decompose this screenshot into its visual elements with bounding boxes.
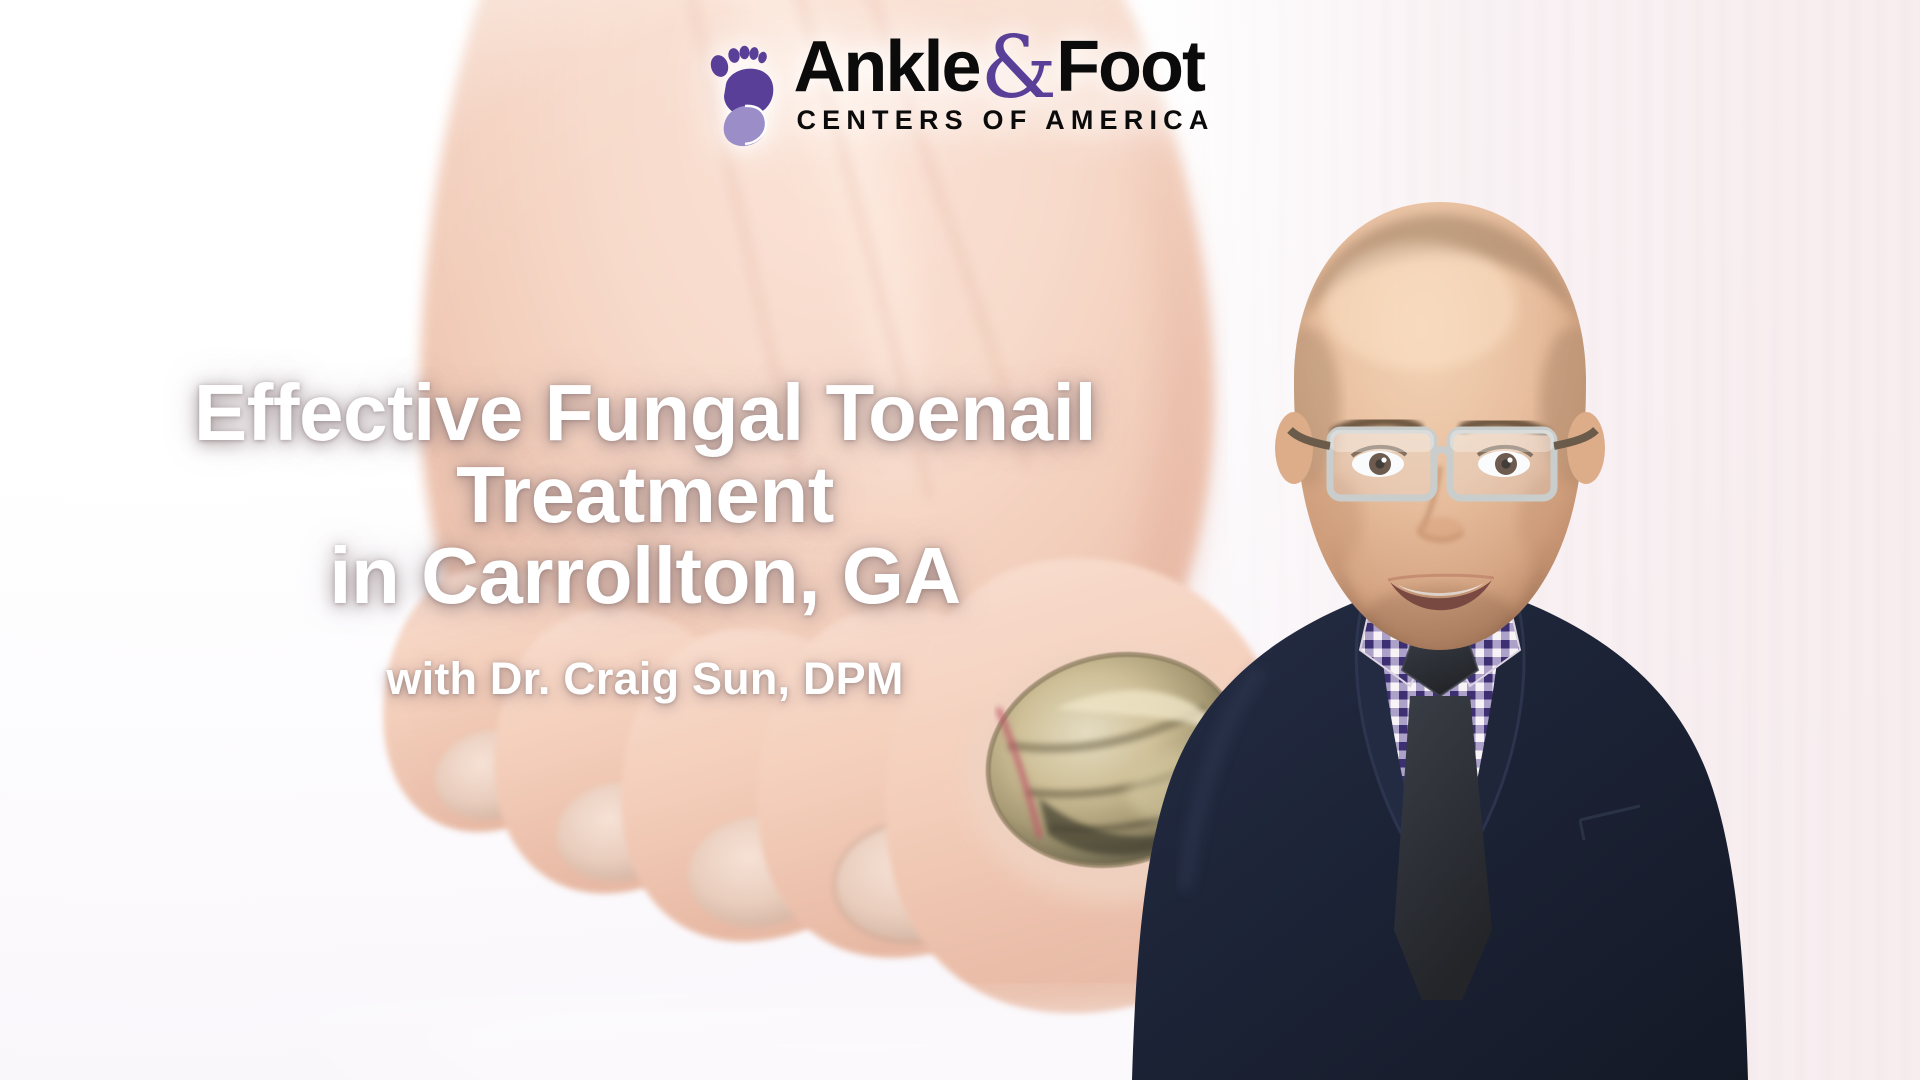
headline-line-1: Effective Fungal Toenail (0, 372, 1290, 454)
logo-ampersand: & (980, 18, 1057, 118)
logo-word-foot: Foot (1056, 27, 1204, 107)
headline-line-3: in Carrollton, GA (0, 535, 1290, 617)
page-title: Effective Fungal Toenail Treatment in Ca… (0, 372, 1290, 617)
logo-word-ankle: Ankle (793, 27, 979, 107)
head (1272, 202, 1608, 672)
headline-line-2: Treatment (0, 454, 1290, 536)
footprint-logo-mark-icon (705, 40, 777, 148)
headline-subtitle: with Dr. Craig Sun, DPM (0, 653, 1290, 705)
doctor-photo (1110, 130, 1770, 1080)
hero-banner: Ankle&Foot CENTERS OF AMERICA Effective … (0, 0, 1920, 1080)
logo-wordmark: Ankle&Foot (793, 34, 1214, 103)
hero-copy-block: Effective Fungal Toenail Treatment in Ca… (0, 372, 1290, 705)
